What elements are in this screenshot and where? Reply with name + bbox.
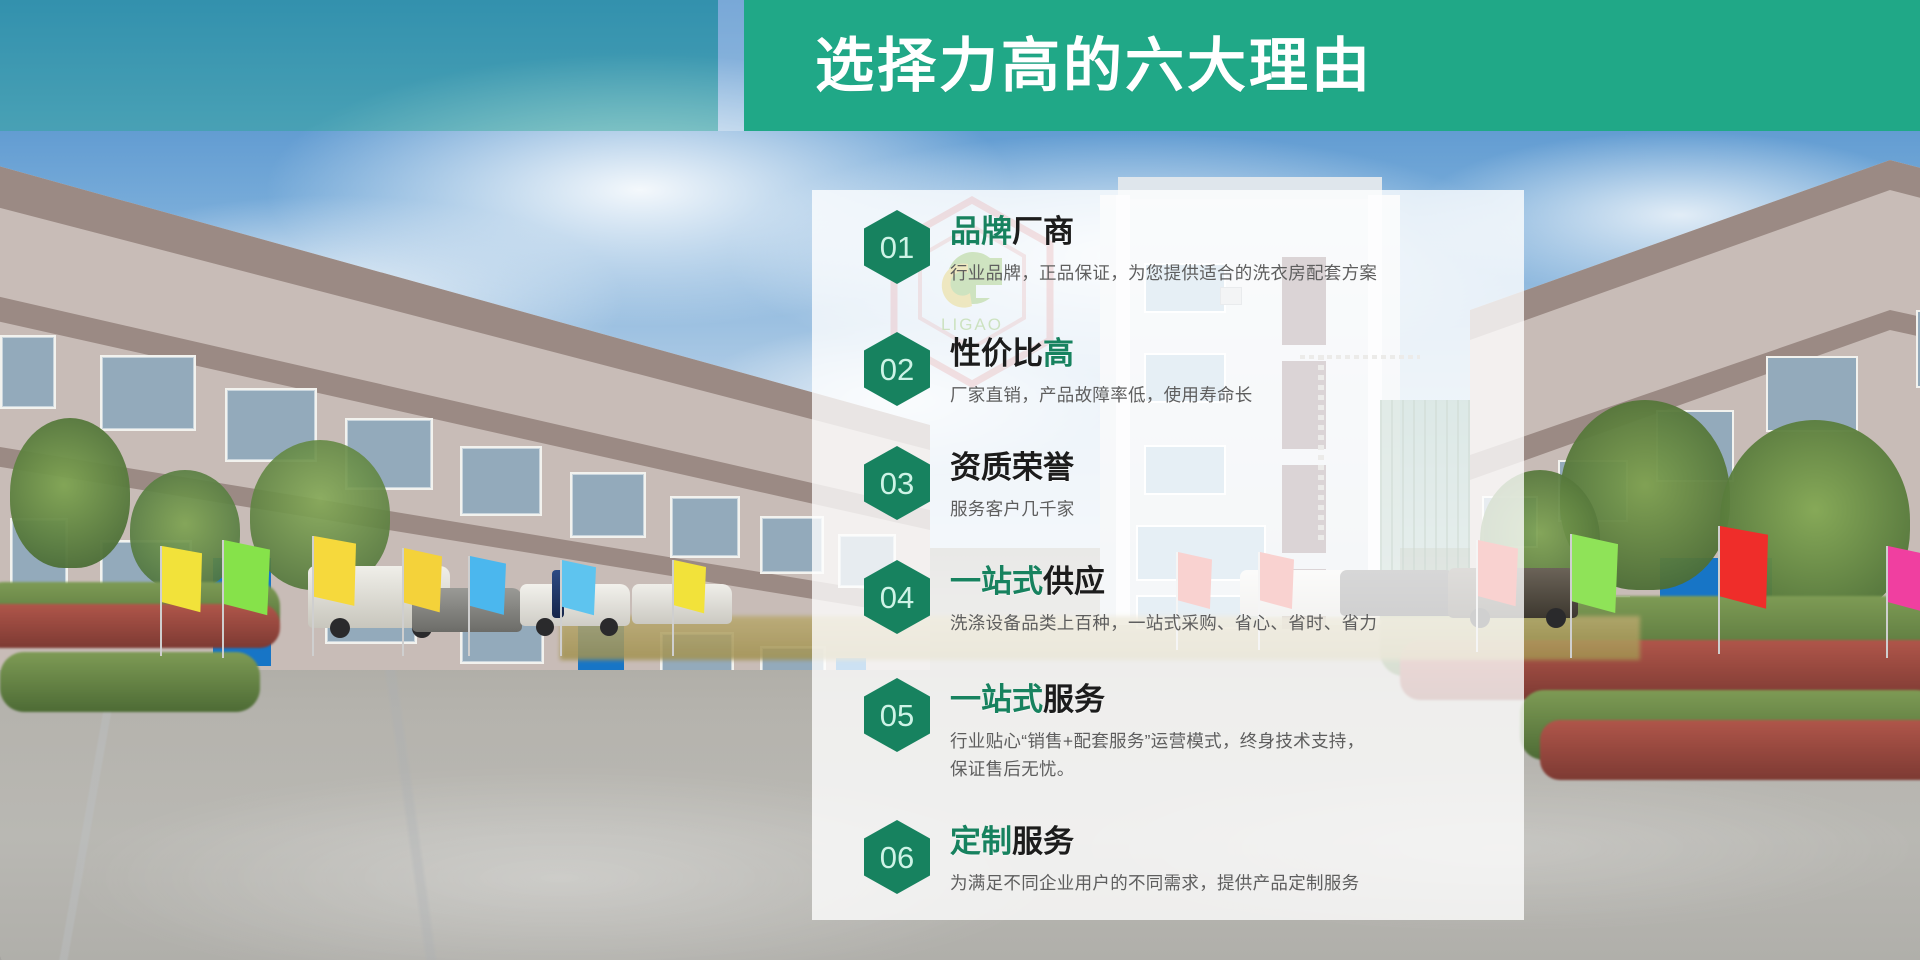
flag-cloth: [562, 560, 596, 620]
title-rest-part: 供应: [1043, 564, 1105, 599]
flag: [312, 536, 354, 656]
badge-hexagon-wrapper: 06: [864, 820, 930, 894]
header-divider-strip: [718, 0, 744, 131]
badge-number: 01: [880, 232, 914, 263]
title-accent-part: 定制: [950, 824, 1012, 859]
banner-stage: 选择力高的六大理由 LIGAO 01: [0, 0, 1920, 960]
wheel: [536, 618, 554, 636]
reasons-panel: LIGAO 01 品牌厂商 行业品牌，正品保证，为您提供适合的洗衣房配套方案: [812, 190, 1524, 920]
flag-pole: [672, 560, 674, 656]
flag-cloth: [1572, 534, 1618, 618]
flag: [1718, 526, 1766, 654]
list-item[interactable]: 03 资质荣誉 服务客户几千家: [864, 446, 1504, 546]
badge-number: 06: [880, 842, 914, 873]
flag-pole: [402, 548, 404, 656]
title-accent-part: 高: [1043, 336, 1074, 371]
flag: [672, 560, 704, 656]
title-rest-part: 厂商: [1012, 214, 1074, 249]
flag-pole: [1570, 534, 1572, 658]
list-item-description: 行业品牌，正品保证，为您提供适合的洗衣房配套方案: [950, 259, 1504, 287]
badge-hexagon-wrapper: 02: [864, 332, 930, 406]
window: [460, 446, 542, 516]
list-item-description: 服务客户几千家: [950, 495, 1504, 523]
flag-pole: [468, 556, 470, 656]
list-item-body: 性价比高 厂家直销，产品故障率低，使用寿命长: [950, 332, 1504, 409]
list-item[interactable]: 05 一站式服务 行业贴心“销售+配套服务”运营模式，终身技术支持， 保证售后无…: [864, 678, 1504, 806]
badge-number: 04: [880, 582, 914, 613]
window: [1916, 310, 1920, 388]
badge-number: 03: [880, 468, 914, 499]
flag: [160, 546, 200, 656]
flag-cloth: [1720, 526, 1768, 614]
list-item[interactable]: 06 定制服务 为满足不同企业用户的不同需求，提供产品定制服务: [864, 820, 1504, 920]
badge-hexagon-wrapper: 05: [864, 678, 930, 752]
window: [0, 335, 56, 409]
flag-cloth: [224, 540, 270, 620]
flag-pole: [312, 536, 314, 656]
window: [100, 355, 196, 431]
list-item-description: 为满足不同企业用户的不同需求，提供产品定制服务: [950, 869, 1504, 897]
list-item[interactable]: 01 品牌厂商 行业品牌，正品保证，为您提供适合的洗衣房配套方案: [864, 210, 1504, 318]
flag: [560, 560, 594, 656]
list-item-body: 一站式服务 行业贴心“销售+配套服务”运营模式，终身技术支持， 保证售后无忧。: [950, 678, 1504, 783]
flag-cloth: [314, 536, 356, 612]
badge-hexagon-wrapper: 04: [864, 560, 930, 634]
list-item-body: 资质荣誉 服务客户几千家: [950, 446, 1504, 523]
list-item-body: 定制服务 为满足不同企业用户的不同需求，提供产品定制服务: [950, 820, 1504, 897]
reasons-list: 01 品牌厂商 行业品牌，正品保证，为您提供适合的洗衣房配套方案 02: [864, 210, 1504, 934]
badge-number: 02: [880, 354, 914, 385]
hedge-row: [0, 652, 260, 712]
window: [570, 472, 646, 538]
hexagon-badge: 05: [864, 678, 930, 752]
header-left-overlay: [0, 0, 718, 131]
hexagon-badge: 04: [864, 560, 930, 634]
flag-pole: [560, 560, 562, 656]
list-item-description: 洗涤设备品类上百种，一站式采购、省心、省时、省力: [950, 609, 1504, 637]
page-title: 选择力高的六大理由: [815, 19, 1373, 113]
flag: [468, 556, 504, 656]
title-rest-part: 服务: [1043, 682, 1105, 717]
hexagon-badge: 01: [864, 210, 930, 284]
badge-number: 05: [880, 700, 914, 731]
flag: [222, 540, 268, 658]
title-dark-part: 性价比: [950, 336, 1043, 371]
flag-cloth: [674, 560, 706, 618]
hexagon-badge: 06: [864, 820, 930, 894]
flag: [1886, 546, 1920, 658]
flag: [1570, 534, 1616, 658]
list-item-title: 一站式服务: [950, 680, 1504, 720]
tree: [10, 418, 130, 568]
title-rest-part: 资质荣誉: [950, 450, 1074, 485]
list-item[interactable]: 02 性价比高 厂家直销，产品故障率低，使用寿命长: [864, 332, 1504, 432]
badge-hexagon-wrapper: 01: [864, 210, 930, 284]
window: [670, 496, 740, 558]
list-item-title: 资质荣誉: [950, 448, 1504, 488]
hexagon-badge: 02: [864, 332, 930, 406]
flag-pole: [222, 540, 224, 658]
flag-cloth: [470, 556, 506, 620]
list-item-title: 定制服务: [950, 822, 1504, 862]
list-item-description: 行业贴心“销售+配套服务”运营模式，终身技术支持， 保证售后无忧。: [950, 727, 1504, 783]
flag-pole: [1886, 546, 1888, 658]
list-item-title: 品牌厂商: [950, 212, 1504, 252]
wheel: [1546, 608, 1566, 628]
flag-pole: [1718, 526, 1720, 654]
flag-cloth: [404, 548, 442, 618]
list-item-title: 一站式供应: [950, 562, 1504, 602]
list-item-title: 性价比高: [950, 334, 1504, 374]
flag-cloth: [162, 546, 202, 618]
header-bar: 选择力高的六大理由: [0, 0, 1920, 131]
list-item-body: 品牌厂商 行业品牌，正品保证，为您提供适合的洗衣房配套方案: [950, 210, 1504, 287]
list-item-description: 厂家直销，产品故障率低，使用寿命长: [950, 381, 1504, 409]
list-item[interactable]: 04 一站式供应 洗涤设备品类上百种，一站式采购、省心、省时、省力: [864, 560, 1504, 664]
title-rest-part: 服务: [1012, 824, 1074, 859]
red-hedge-row: [1540, 720, 1920, 780]
flag-cloth: [1888, 546, 1920, 618]
hexagon-badge: 03: [864, 446, 930, 520]
title-accent-part: 品牌: [950, 214, 1012, 249]
title-accent-part: 一站式: [950, 564, 1043, 599]
badge-hexagon-wrapper: 03: [864, 446, 930, 520]
flag: [402, 548, 440, 656]
list-item-body: 一站式供应 洗涤设备品类上百种，一站式采购、省心、省时、省力: [950, 560, 1504, 637]
title-accent-part: 一站式: [950, 682, 1043, 717]
wheel: [600, 618, 618, 636]
flag-pole: [160, 546, 162, 656]
